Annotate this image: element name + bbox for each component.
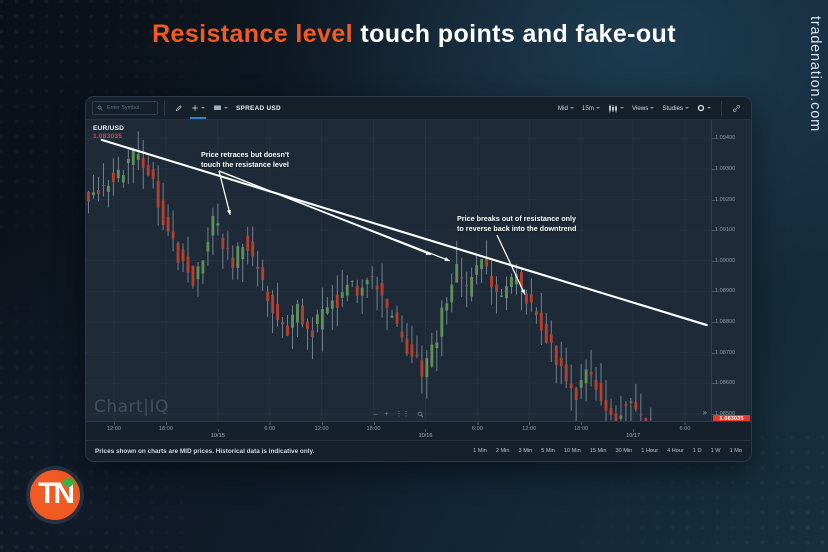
time-axis[interactable]: 12:0018:0010/156:0012:0018:0010/166:0012…: [86, 421, 751, 440]
display-options-button[interactable]: [209, 98, 232, 119]
timeframe-button[interactable]: 1 W: [711, 448, 721, 454]
footer-disclaimer: Prices shown on charts are MID prices. H…: [95, 448, 314, 455]
symbol-search-placeholder: Enter Symbol: [107, 105, 139, 111]
price-mode-label: Mid: [558, 105, 568, 112]
price-axis[interactable]: 1.094001.093001.092001.091001.090001.089…: [711, 120, 751, 421]
timeframe-button[interactable]: 1 Mo: [730, 448, 742, 454]
timeframe-button[interactable]: 1 Min: [473, 448, 487, 454]
timeframe-button[interactable]: 3 Min: [519, 448, 533, 454]
chevron-down-icon: [620, 107, 624, 109]
chart-gridlines: [86, 120, 711, 421]
time-axis-date-tick: 10/15: [211, 433, 225, 439]
fit-icon[interactable]: ⋮⋮: [396, 411, 410, 418]
symbol-search-input[interactable]: Enter Symbol: [92, 101, 158, 115]
timeframe-button[interactable]: 2 Min: [496, 448, 510, 454]
chevron-down-icon: [650, 107, 654, 109]
chevron-down-icon: [224, 107, 228, 109]
scroll-forward-button[interactable]: »: [703, 408, 707, 417]
chart-type-selector[interactable]: [604, 98, 628, 119]
symbol-info: EUR/USD 1.083035: [93, 125, 124, 140]
symbol-last-price: 1.083035: [93, 133, 124, 141]
spread-label-text: SPREAD USD: [236, 105, 281, 112]
chevron-down-icon: [570, 107, 574, 109]
chart-plot-area[interactable]: EUR/USD 1.083035 Price retraces but does…: [86, 120, 711, 421]
price-mode-selector[interactable]: Mid: [554, 98, 578, 119]
timeframe-button[interactable]: 1 Hour: [641, 448, 658, 454]
studies-label: Studies: [662, 105, 683, 112]
plus-icon: [191, 104, 199, 112]
brand-website-label: tradenation.com: [807, 16, 823, 132]
zoom-in-icon[interactable]: +: [384, 411, 388, 418]
logo-disc: TN: [30, 470, 80, 520]
chartiq-watermark: Chart|IQ: [94, 397, 169, 417]
time-axis-tick: 12:00: [107, 426, 121, 432]
timeframe-button[interactable]: 10 Min: [564, 448, 581, 454]
interval-label: 15m: [582, 105, 594, 112]
toolbar-divider: [164, 101, 165, 116]
price-axis-tick: 1.09400: [715, 135, 735, 141]
candlestick-series: [87, 131, 711, 421]
chevron-down-icon: [596, 107, 600, 109]
add-study-button[interactable]: [187, 98, 209, 119]
annotation-fakeout: Price breaks out of resistance only to r…: [457, 214, 576, 234]
views-menu[interactable]: Views: [628, 98, 658, 119]
time-axis-tick: 6:00: [472, 426, 483, 432]
time-axis-tick: 18:00: [367, 426, 381, 432]
candlestick-icon: [608, 104, 618, 113]
drawing-tools-button[interactable]: [171, 98, 187, 119]
chevron-down-icon: [707, 107, 711, 109]
magnifier-icon[interactable]: [417, 411, 424, 418]
price-axis-tick: 1.08900: [715, 288, 735, 294]
resistance-trendline: [102, 140, 707, 325]
time-axis-tick: 6:00: [264, 426, 275, 432]
price-axis-tick: 1.08700: [715, 350, 735, 356]
timeframe-buttons: 1 Min2 Min3 Min5 Min10 Min15 Min30 Min1 …: [473, 448, 742, 454]
search-icon: [97, 105, 103, 111]
time-axis-tick: 12:00: [522, 426, 536, 432]
timeframe-button[interactable]: 5 Min: [541, 448, 555, 454]
toolbar-divider: [721, 101, 722, 116]
time-axis-tick: 18:00: [574, 426, 588, 432]
timeframe-button[interactable]: 30 Min: [616, 448, 633, 454]
timeframe-button[interactable]: 15 Min: [590, 448, 607, 454]
share-link-button[interactable]: [728, 98, 745, 119]
poster-canvas: Resistance level touch points and fake-o…: [0, 0, 828, 552]
price-axis-tick: 1.08800: [715, 319, 735, 325]
chart-toolbar-right: Mid 15m: [554, 98, 745, 119]
spread-label: SPREAD USD: [232, 98, 285, 119]
zoom-out-icon[interactable]: –: [374, 411, 378, 418]
timeframe-button[interactable]: 1 D: [693, 448, 702, 454]
time-axis-tick: 12:00: [315, 426, 329, 432]
chevron-down-icon: [201, 107, 205, 109]
time-axis-tick: 18:00: [159, 426, 173, 432]
page-title: Resistance level touch points and fake-o…: [0, 20, 828, 49]
chart-plot-wrapper: EUR/USD 1.083035 Price retraces but does…: [86, 120, 751, 421]
chevron-down-icon: [685, 107, 689, 109]
page-title-accent: Resistance level: [152, 20, 353, 48]
time-axis-tick: 6:00: [680, 426, 691, 432]
trade-nation-logo: TN: [26, 466, 84, 524]
time-axis-date-tick: 10/17: [626, 433, 640, 439]
price-axis-tick: 1.08600: [715, 380, 735, 386]
symbol-name: EUR/USD: [93, 125, 124, 133]
chart-widget: Enter Symbol: [85, 96, 752, 462]
settings-menu[interactable]: [693, 98, 715, 119]
studies-menu[interactable]: Studies: [658, 98, 693, 119]
annotation-retrace: Price retraces but doesn't touch the res…: [201, 150, 289, 170]
interval-selector[interactable]: 15m: [578, 98, 604, 119]
timeframe-button[interactable]: 4 Hour: [667, 448, 684, 454]
price-chart-svg: [86, 120, 711, 421]
page-title-rest: touch points and fake-out: [360, 20, 676, 48]
price-axis-tick: 1.09300: [715, 166, 735, 172]
views-label: Views: [632, 105, 648, 112]
gear-icon: [697, 104, 705, 112]
time-axis-date-tick: 10/16: [418, 433, 432, 439]
monitor-icon: [213, 104, 222, 112]
price-axis-tick: 1.09200: [715, 197, 735, 203]
chart-footer: Prices shown on charts are MID prices. H…: [86, 440, 751, 461]
pencil-icon: [175, 104, 183, 112]
zoom-controls: – + ⋮⋮: [374, 411, 424, 418]
price-axis-tick: 1.09100: [715, 227, 735, 233]
chart-toolbar: Enter Symbol: [86, 97, 751, 120]
link-icon: [732, 104, 741, 113]
price-axis-tick: 1.09000: [715, 258, 735, 264]
